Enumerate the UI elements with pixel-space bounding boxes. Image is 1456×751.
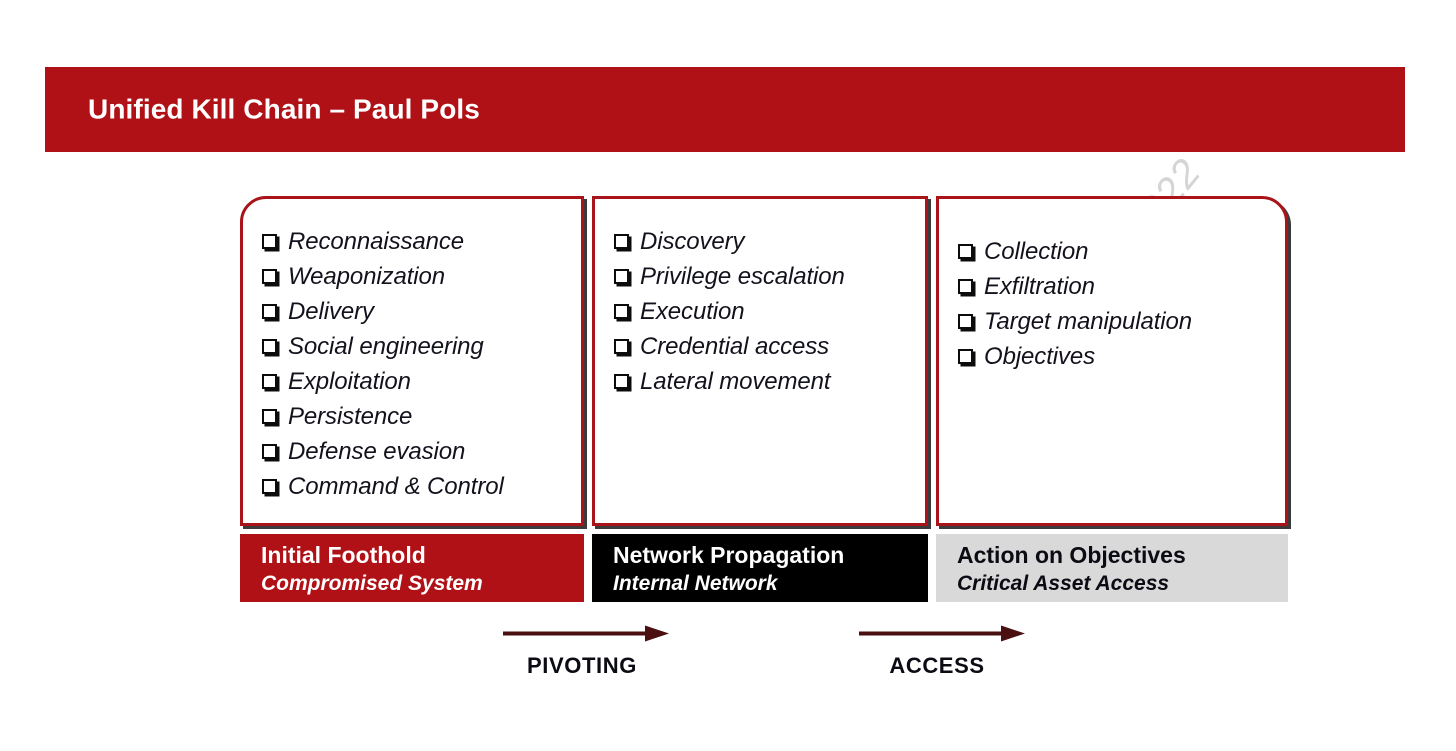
list-item[interactable]: Exploitation bbox=[262, 364, 584, 399]
list-item[interactable]: Command & Control bbox=[262, 469, 584, 504]
list-item[interactable]: Collection bbox=[958, 234, 1288, 269]
list-item[interactable]: Exfiltration bbox=[958, 269, 1288, 304]
list-item[interactable]: Delivery bbox=[262, 294, 584, 329]
checkbox-square-icon[interactable] bbox=[958, 244, 973, 259]
checkbox-square-icon[interactable] bbox=[262, 304, 277, 319]
arrow-right-icon bbox=[828, 622, 1046, 646]
phase-bar-initial-foothold: Initial Foothold Compromised System bbox=[240, 534, 584, 602]
list-item[interactable]: Credential access bbox=[614, 329, 928, 364]
list-item[interactable]: Execution bbox=[614, 294, 928, 329]
stage-item-label: Target manipulation bbox=[984, 304, 1192, 339]
arrow-right-icon bbox=[473, 622, 691, 646]
stage-item-label: Credential access bbox=[640, 329, 829, 364]
transition-label: ACCESS bbox=[828, 653, 1046, 679]
stage-item-label: Weaponization bbox=[288, 259, 445, 294]
phase-name: Initial Foothold bbox=[261, 541, 584, 570]
phase-bar-network-propagation: Network Propagation Internal Network bbox=[592, 534, 928, 602]
stage-item-label: Delivery bbox=[288, 294, 374, 329]
phase-bar-action-on-objectives: Action on Objectives Critical Asset Acce… bbox=[936, 534, 1288, 602]
list-item[interactable]: Discovery bbox=[614, 224, 928, 259]
stage-item-label: Exfiltration bbox=[984, 269, 1095, 304]
list-item[interactable]: Target manipulation bbox=[958, 304, 1288, 339]
phase-subtitle: Internal Network bbox=[613, 570, 928, 598]
stage-item-label: Persistence bbox=[288, 399, 412, 434]
checkbox-square-icon[interactable] bbox=[262, 374, 277, 389]
stage-column-network-propagation: Discovery Privilege escalation Execution… bbox=[592, 196, 928, 526]
checkbox-square-icon[interactable] bbox=[614, 269, 629, 284]
checkbox-square-icon[interactable] bbox=[614, 234, 629, 249]
stage-item-label: Lateral movement bbox=[640, 364, 831, 399]
checkbox-square-icon[interactable] bbox=[262, 339, 277, 354]
checkbox-square-icon[interactable] bbox=[614, 304, 629, 319]
list-item[interactable]: Objectives bbox=[958, 339, 1288, 374]
phase-name: Action on Objectives bbox=[957, 541, 1288, 570]
stage-item-list: Collection Exfiltration Target manipulat… bbox=[936, 196, 1288, 374]
stage-item-list: Reconnaissance Weaponization Delivery So… bbox=[240, 196, 584, 504]
checkbox-square-icon[interactable] bbox=[614, 339, 629, 354]
stage-item-label: Objectives bbox=[984, 339, 1095, 374]
phase-name: Network Propagation bbox=[613, 541, 928, 570]
stage-item-label: Defense evasion bbox=[288, 434, 465, 469]
stage-item-label: Social engineering bbox=[288, 329, 484, 364]
stage-item-label: Command & Control bbox=[288, 469, 504, 504]
list-item[interactable]: Privilege escalation bbox=[614, 259, 928, 294]
phase-subtitle: Critical Asset Access bbox=[957, 570, 1288, 598]
stage-column-action-on-objectives: Collection Exfiltration Target manipulat… bbox=[936, 196, 1288, 526]
stage-item-label: Privilege escalation bbox=[640, 259, 845, 294]
stage-item-label: Execution bbox=[640, 294, 745, 329]
transition-pivoting: PIVOTING bbox=[473, 622, 691, 679]
stage-item-label: Collection bbox=[984, 234, 1088, 269]
transition-access: ACCESS bbox=[828, 622, 1046, 679]
list-item[interactable]: Reconnaissance bbox=[262, 224, 584, 259]
checkbox-square-icon[interactable] bbox=[262, 269, 277, 284]
checkbox-square-icon[interactable] bbox=[958, 314, 973, 329]
checkbox-square-icon[interactable] bbox=[958, 279, 973, 294]
list-item[interactable]: Social engineering bbox=[262, 329, 584, 364]
stage-item-label: Reconnaissance bbox=[288, 224, 464, 259]
stage-item-label: Discovery bbox=[640, 224, 744, 259]
checkbox-square-icon[interactable] bbox=[262, 234, 277, 249]
list-item[interactable]: Persistence bbox=[262, 399, 584, 434]
stage-item-label: Exploitation bbox=[288, 364, 411, 399]
checkbox-square-icon[interactable] bbox=[958, 349, 973, 364]
checkbox-square-icon[interactable] bbox=[614, 374, 629, 389]
stage-item-list: Discovery Privilege escalation Execution… bbox=[592, 196, 928, 399]
checkbox-square-icon[interactable] bbox=[262, 479, 277, 494]
stage-column-initial-foothold: Reconnaissance Weaponization Delivery So… bbox=[240, 196, 584, 526]
checkbox-square-icon[interactable] bbox=[262, 409, 277, 424]
transition-label: PIVOTING bbox=[473, 653, 691, 679]
phase-subtitle: Compromised System bbox=[261, 570, 584, 598]
list-item[interactable]: Weaponization bbox=[262, 259, 584, 294]
unified-kill-chain-diagram: Reconnaissance Weaponization Delivery So… bbox=[0, 0, 1456, 751]
checkbox-square-icon[interactable] bbox=[262, 444, 277, 459]
list-item[interactable]: Lateral movement bbox=[614, 364, 928, 399]
list-item[interactable]: Defense evasion bbox=[262, 434, 584, 469]
